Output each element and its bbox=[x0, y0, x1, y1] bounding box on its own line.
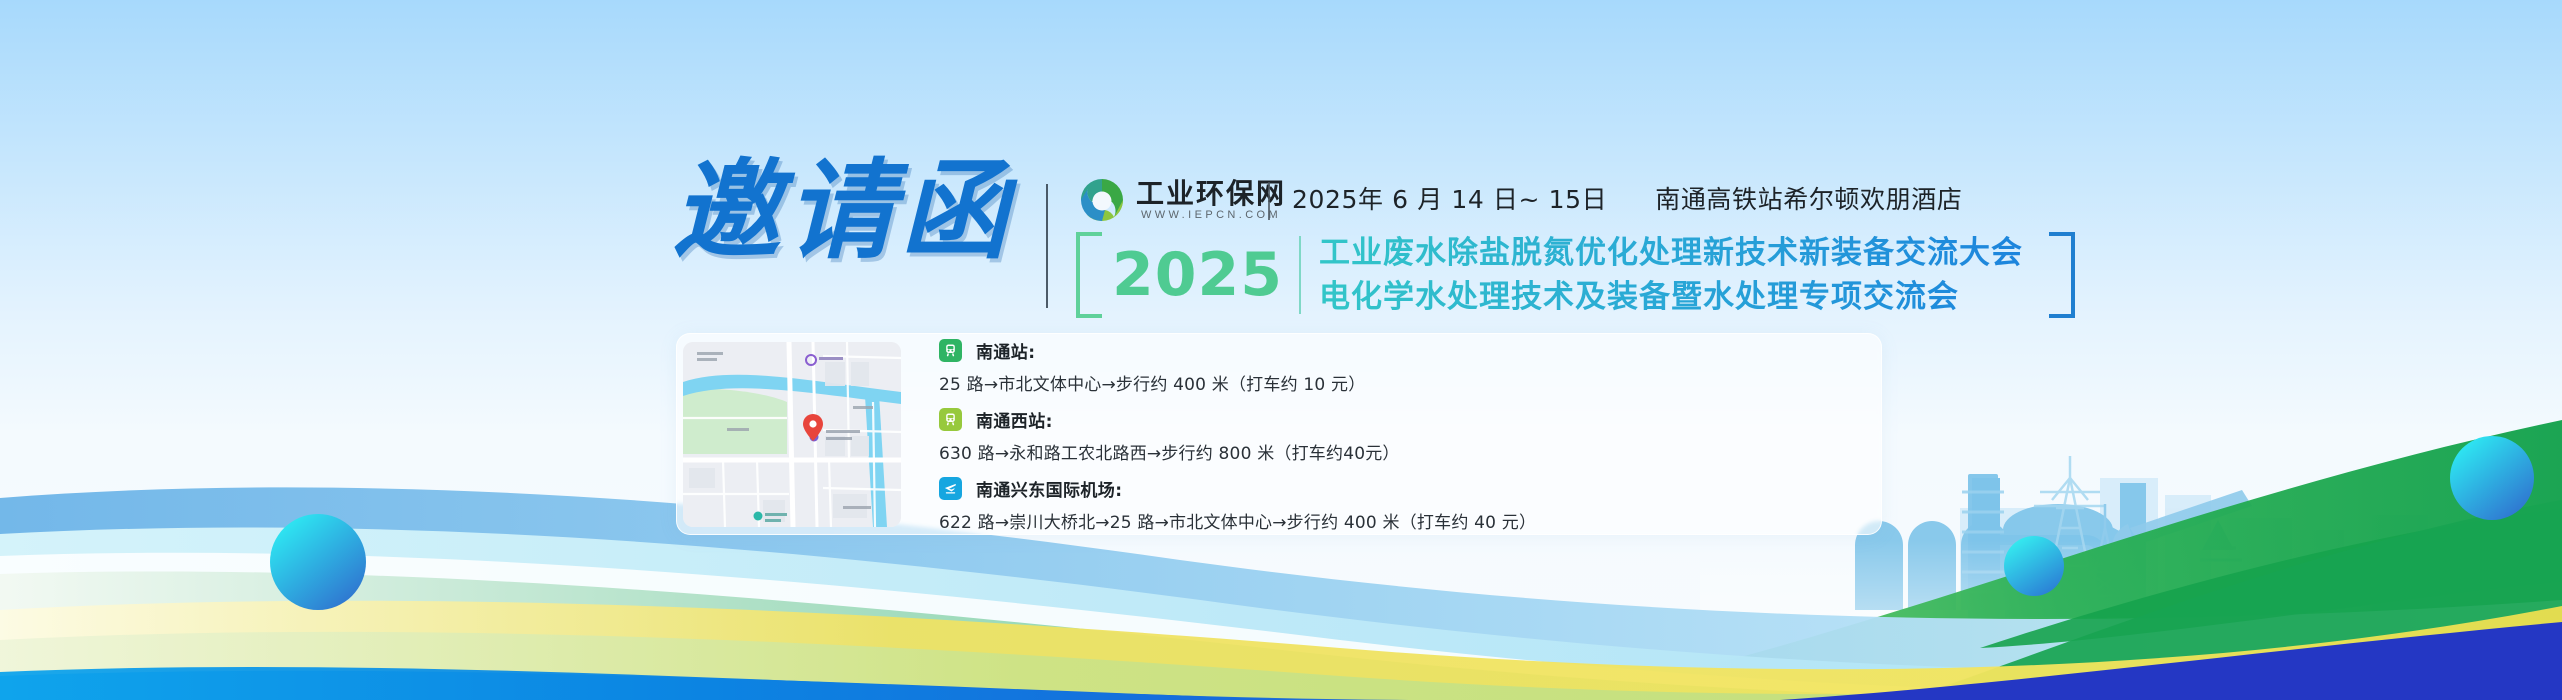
map-thumbnail[interactable] bbox=[683, 342, 901, 527]
route-item-header: 南通站: bbox=[939, 338, 1536, 363]
travel-info-card: 南通站: 25 路→市北文体中心→步行约 400 米（打车约 10 元） 南通西… bbox=[676, 333, 1882, 535]
route-name: 南通站: bbox=[976, 338, 1035, 363]
invitation-banner: 邀请函 工业环保网 WWW.IEPCN.COM 2025年 6 月 14 日~ bbox=[0, 0, 2562, 700]
airplane-icon bbox=[939, 477, 962, 500]
route-name: 南通兴东国际机场: bbox=[976, 476, 1122, 501]
route-description: 25 路→市北文体中心→步行约 400 米（打车约 10 元） bbox=[939, 370, 1536, 395]
route-description: 630 路→永和路工农北路西→步行约 800 米（打车约40元） bbox=[939, 439, 1536, 464]
page-title: 邀请函 bbox=[672, 158, 1014, 266]
route-item-header: 南通西站: bbox=[939, 407, 1536, 432]
train-icon bbox=[939, 339, 962, 362]
route-name: 南通西站: bbox=[976, 407, 1053, 432]
route-item-header: 南通兴东国际机场: bbox=[939, 476, 1536, 501]
invitation-title-block: 邀请函 bbox=[672, 158, 1014, 266]
route-list: 南通站: 25 路→市北文体中心→步行约 400 米（打车约 10 元） 南通西… bbox=[939, 336, 1536, 533]
route-description: 622 路→崇川大桥北→25 路→市北文体中心→步行约 400 米（打车约 40… bbox=[939, 508, 1536, 533]
train-icon bbox=[939, 408, 962, 431]
